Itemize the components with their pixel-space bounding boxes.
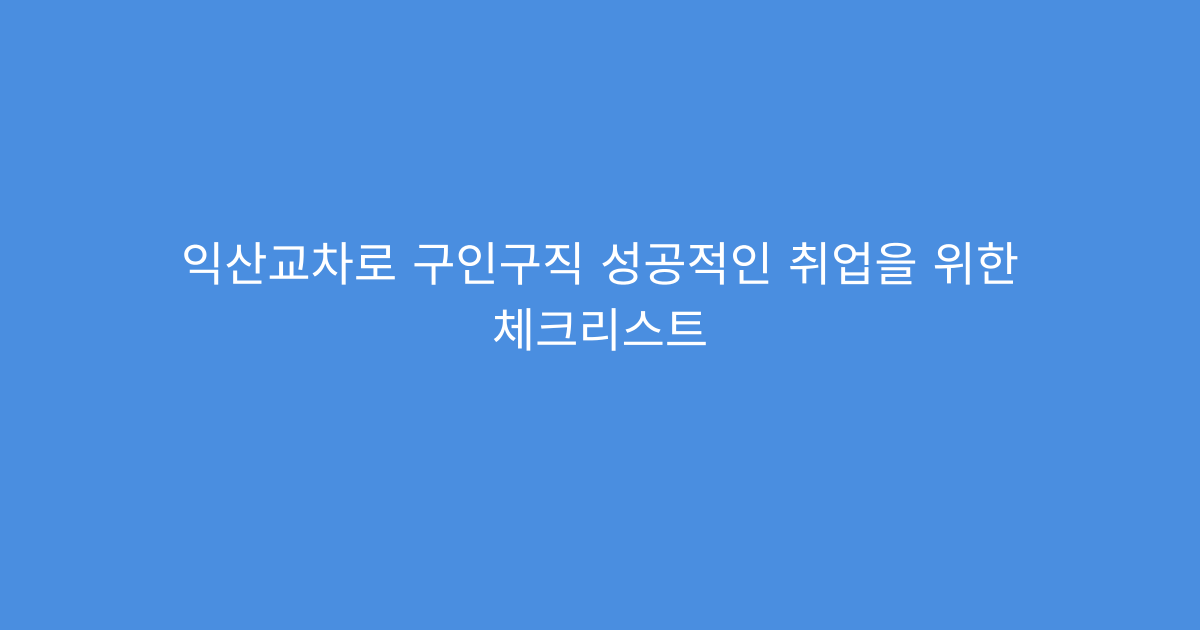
title-block: 익산교차로 구인구직 성공적인 취업을 위한 체크리스트 [120,233,1080,365]
banner-card: 익산교차로 구인구직 성공적인 취업을 위한 체크리스트 [0,0,1200,630]
banner-title: 익산교차로 구인구직 성공적인 취업을 위한 체크리스트 [140,233,1060,365]
